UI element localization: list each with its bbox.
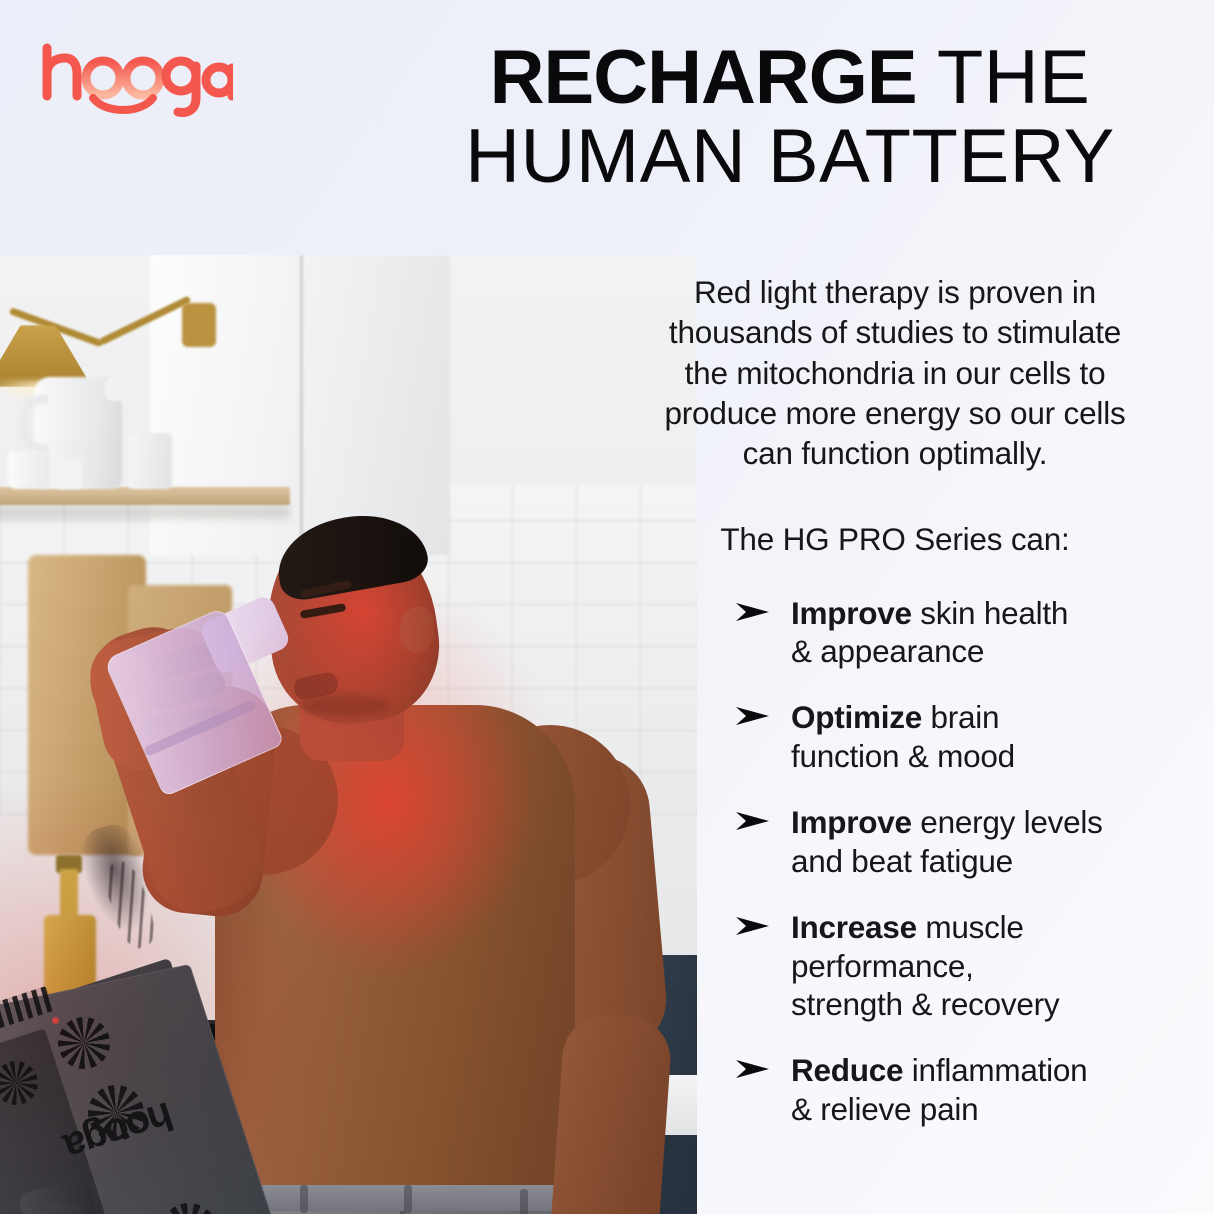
- benefit-text: Reduce inflammation & relieve pain: [791, 1051, 1087, 1128]
- headline-the: THE: [917, 35, 1091, 120]
- benefit-text: Increase muscle performance, strength & …: [791, 908, 1059, 1023]
- benefit-keyword: Improve: [791, 804, 912, 840]
- arrow-icon: [735, 810, 775, 832]
- power-led-icon: [52, 1017, 59, 1024]
- benefit-line2: & relieve pain: [791, 1091, 978, 1127]
- copy-column: Red light therapy is proven in thousands…: [585, 272, 1205, 1128]
- benefit-keyword: Improve: [791, 595, 912, 631]
- benefit-line3: strength & recovery: [791, 986, 1059, 1022]
- intro-paragraph: Red light therapy is proven in thousands…: [585, 272, 1205, 474]
- page-title: RECHARGE THE HUMAN BATTERY: [420, 42, 1160, 193]
- benefit-keyword: Optimize: [791, 699, 922, 735]
- paragraph-line: can function optimally.: [585, 433, 1205, 473]
- list-item: Improve energy levels and beat fatigue: [735, 803, 1205, 880]
- list-item: Increase muscle performance, strength & …: [735, 908, 1205, 1023]
- ceramic-cup: [8, 451, 50, 489]
- headline-line-1: RECHARGE THE: [420, 42, 1160, 113]
- benefit-line2: & appearance: [791, 633, 984, 669]
- benefit-text: Optimize brain function & mood: [791, 698, 1015, 775]
- arrow-icon: [735, 915, 775, 937]
- benefit-rest: energy levels: [912, 804, 1103, 840]
- pitcher-spout: [104, 375, 130, 401]
- arrow-icon: [735, 601, 775, 623]
- shelf-shadow: [0, 505, 290, 519]
- arrow-icon: [735, 705, 775, 727]
- benefit-line2: and beat fatigue: [791, 843, 1013, 879]
- list-item: Optimize brain function & mood: [735, 698, 1205, 775]
- benefit-rest: muscle: [917, 909, 1024, 945]
- paragraph-line: Red light therapy is proven in: [585, 272, 1205, 312]
- chin-shadow: [300, 695, 390, 717]
- ceramic-jar: [128, 433, 172, 489]
- paragraph-line: produce more energy so our cells: [585, 393, 1205, 433]
- belt-loop: [520, 1189, 528, 1214]
- benefit-keyword: Reduce: [791, 1052, 903, 1088]
- ceramic-cup: [56, 459, 82, 489]
- benefit-text: Improve energy levels and beat fatigue: [791, 803, 1103, 880]
- paragraph-line: the mitochondria in our cells to: [585, 353, 1205, 393]
- oil-bottle-neck: [60, 869, 78, 919]
- benefit-rest: inflammation: [903, 1052, 1087, 1088]
- open-shelf: [0, 487, 290, 505]
- benefit-rest: brain: [922, 699, 999, 735]
- sconce-plate: [182, 303, 216, 347]
- headline-recharge: RECHARGE: [490, 35, 917, 120]
- arrow-icon: [735, 1058, 775, 1080]
- benefits-list: Improve skin health & appearance Optimiz…: [585, 594, 1205, 1129]
- pitcher-handle: [20, 395, 48, 453]
- benefit-text: Improve skin health & appearance: [791, 594, 1068, 671]
- benefit-line2: performance,: [791, 948, 974, 984]
- benefit-rest: skin health: [912, 595, 1068, 631]
- list-item: Reduce inflammation & relieve pain: [735, 1051, 1205, 1128]
- ear: [400, 607, 434, 653]
- belt-loop: [300, 1185, 308, 1213]
- hooga-logo[interactable]: [33, 40, 233, 120]
- belt-loop: [404, 1185, 412, 1213]
- paragraph-line: thousands of studies to stimulate: [585, 312, 1205, 352]
- list-item: Improve skin health & appearance: [735, 594, 1205, 671]
- headline-line-2: HUMAN BATTERY: [420, 121, 1160, 192]
- benefit-keyword: Increase: [791, 909, 917, 945]
- series-intro: The HG PRO Series can:: [585, 521, 1205, 558]
- benefit-line2: function & mood: [791, 738, 1015, 774]
- cabinet-seam: [300, 255, 303, 555]
- poster-canvas: hooga: [0, 0, 1214, 1214]
- hooga-logo-icon: [33, 40, 233, 120]
